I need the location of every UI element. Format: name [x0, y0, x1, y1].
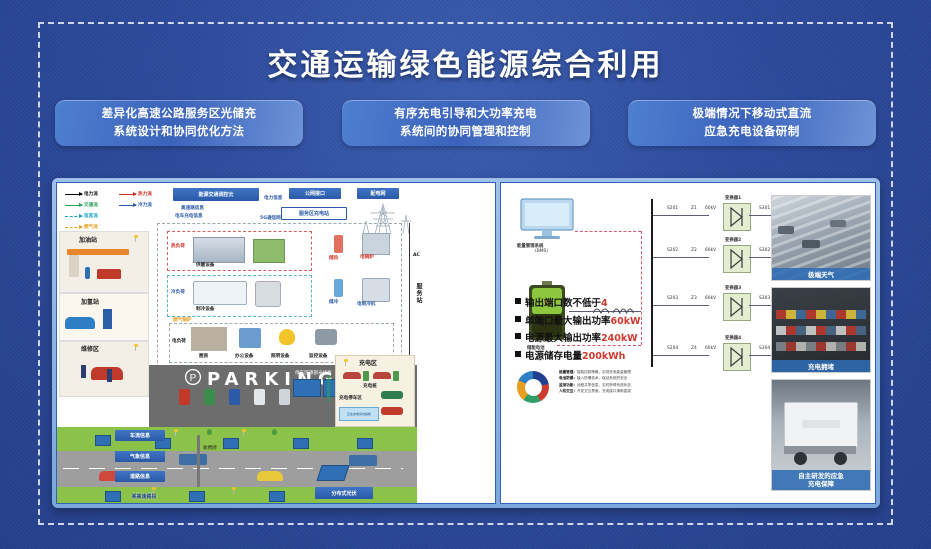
- road-car-yellow: [257, 471, 283, 481]
- branch-2-switch-label: S202: [667, 248, 678, 253]
- subtitle-pill-1-line2: 系统设计和协同优化方法: [114, 123, 245, 141]
- spec-3-value: 240kW: [601, 333, 638, 344]
- subtitle-pill-2-line1: 有序充电引导和大功率充电: [394, 105, 537, 123]
- car-red-at-gas-station: [97, 269, 121, 279]
- driveway-label: DRIVEWAY: [325, 375, 330, 402]
- branch-1-voltage-label: 60kV: [705, 206, 716, 211]
- branch-3-converter-label: 变换器3: [725, 285, 741, 291]
- bms-sublabel: (BMS): [535, 249, 548, 254]
- subtitle-pill-row: 差异化高速公路服务区光储充 系统设计和协同优化方法 有序充电引导和大功率充电 系…: [55, 100, 876, 146]
- monitoring-icon: [315, 329, 337, 345]
- cold-load-label: 冷负荷: [171, 289, 185, 295]
- right-circuit-panel: 能量管理系统 (BMS) ⚡ 储能电池 S101: [500, 182, 876, 504]
- legend-label-info: 信息流: [84, 213, 98, 219]
- feature-item-4: 人机交互：开发交互界面，充电接口清晰直观: [559, 388, 631, 394]
- legend-item-power: 电力流: [65, 191, 98, 197]
- feature-2-name: 电池防爆：: [559, 376, 577, 380]
- office-equipment-icon: [239, 328, 261, 348]
- subtitle-pill-1-line1: 差异化高速公路服务区光储充: [102, 105, 257, 123]
- legend-item-info: 信息流: [65, 213, 98, 219]
- lamp-icon-gas: [135, 237, 136, 242]
- feature-list: 能量管理：智能控制策略，实现充电能量管理 电池防爆：植入防爆技术，保证系统的安全…: [559, 369, 631, 394]
- branch-2-wire: [653, 257, 709, 258]
- poster-root: 交通运输绿色能源综合利用 差异化高速公路服务区光储充 系统设计和协同优化方法 有…: [0, 0, 931, 549]
- spec-item-1: 输出端口数不低于4: [515, 295, 641, 309]
- subtitle-pill-3-line2: 应急充电设备研制: [704, 123, 799, 141]
- bullet-square-icon: [515, 333, 521, 339]
- legend-label-gas: 燃气流: [84, 224, 98, 230]
- lot-car-red: [381, 407, 403, 415]
- spec-4-value: 200kWh: [582, 351, 625, 362]
- bullet-square-icon: [515, 298, 521, 304]
- grid-box-service-charging[interactable]: 服务区充电站: [281, 207, 347, 220]
- gas-station-label: 加油站: [79, 235, 97, 244]
- lot-car-green: [381, 391, 403, 399]
- tree-1: [207, 429, 212, 435]
- branch-3-inductor-label: Z3: [691, 296, 697, 301]
- mechanic-1: [81, 365, 86, 378]
- parking-p-icon: P: [185, 369, 201, 385]
- branch-1-inductor-label: Z1: [691, 206, 697, 211]
- branch-1-switch-label: S201: [667, 206, 678, 211]
- bms-control-bus-top: [575, 231, 641, 232]
- photo-mobile-charger-caption: 自主研发的应急 充电保障: [772, 470, 870, 490]
- cloud-link-power: 电力信息: [264, 195, 282, 201]
- road-truck-blue: [179, 454, 207, 465]
- roadside-solar-3: [223, 438, 239, 449]
- info-board-weather[interactable]: 气象信息: [115, 451, 165, 462]
- photo-mobile-charger-caption-line1: 自主研发的应急: [798, 472, 844, 480]
- cold-storage-label: 储冷: [329, 299, 338, 305]
- branch-3-wire: [653, 305, 709, 306]
- repair-zone-label: 维修区: [81, 344, 99, 353]
- photo-charging-congestion: 充电拥堵: [771, 287, 871, 373]
- photo-mobile-charger: 自主研发的应急 充电保障: [771, 379, 871, 491]
- branch-2-converter-label: 变换器2: [725, 237, 741, 243]
- lighting-icon: [279, 329, 295, 345]
- hydrogen-station-label: 加氢站: [81, 297, 99, 306]
- person-at-pump: [85, 267, 90, 279]
- road-lane-markings: [63, 468, 403, 469]
- charging-lot-label: 充电停车区: [339, 395, 362, 401]
- spec-1-text: 输出端口数不低于: [525, 298, 601, 309]
- branch-4-voltage-label: 60kV: [705, 346, 716, 351]
- bms-control-bus-vertical: [641, 231, 642, 345]
- cooling-equipment-icon: [193, 281, 247, 305]
- parked-car-1: [179, 389, 190, 405]
- feature-1-text: 智能控制策略，实现充电能量管理: [577, 370, 631, 374]
- road-truck-blue-2: [349, 455, 377, 466]
- service-station-label: 服务站: [414, 283, 423, 304]
- cold-equip-label: 制冷设备: [196, 306, 214, 312]
- page-title: 交通运输绿色能源综合利用: [0, 40, 931, 84]
- spec-bullet-list: 输出端口数不低于4 单端口最大输出功率60kW 电源最大输出功率240kW 电源…: [515, 295, 641, 365]
- parked-car-3: [229, 389, 240, 405]
- roadside-solar-4: [293, 438, 309, 449]
- chiller-icon: [255, 281, 281, 307]
- branch-4-out-label: S304: [759, 346, 770, 351]
- feature-3-text: 远程共享信息，实时获得系统状态: [577, 383, 631, 387]
- street-lamp-2: [243, 431, 244, 436]
- feature-item-3: 监测功能：远程共享信息，实时获得系统状态: [559, 382, 631, 388]
- content-card: 电力流 热力流 交通流 冷力流 信息流 燃气流 能源交通调控云 公网接口 配电网…: [52, 178, 880, 508]
- branch-4-converter-icon: [723, 343, 751, 371]
- charging-zone-lamp: [345, 361, 346, 366]
- feature-item-2: 电池防爆：植入防爆技术，保证系统的安全: [559, 375, 631, 381]
- photo-mobile-charger-caption-line2: 充电保障: [808, 480, 834, 488]
- legend-item-gas: 燃气流: [65, 224, 98, 230]
- branch-3-converter-icon: [723, 293, 751, 321]
- branch-2-converter-icon: [723, 245, 751, 273]
- roadside-solar-1: [95, 435, 111, 446]
- legend-item-cold: 冷力流: [119, 202, 152, 208]
- kitchen-icon: [191, 327, 227, 351]
- feature-4-name: 人机交互：: [559, 389, 577, 393]
- legend-item-heat: 热力流: [119, 191, 152, 197]
- roadside-solar-5: [357, 438, 373, 449]
- left-diagram-panel: 电力流 热力流 交通流 冷力流 信息流 燃气流 能源交通调控云 公网接口 配电网…: [56, 182, 496, 504]
- photo-extreme-weather-caption: 极端天气: [772, 268, 870, 280]
- svg-text:P: P: [190, 373, 197, 384]
- gas-boiler-label: 燃气锅炉: [173, 317, 191, 323]
- heat-equip-label: 供暖设备: [196, 262, 214, 268]
- branch-3-voltage-label: 60kV: [705, 296, 716, 301]
- mechanic-2: [107, 369, 112, 382]
- parked-car-2: [204, 389, 215, 405]
- electric-load-label: 电负荷: [172, 338, 186, 344]
- toll-gate-post: [197, 435, 200, 487]
- subtitle-pill-2[interactable]: 有序充电引导和大功率充电 系统间的协同管理和控制: [342, 100, 590, 146]
- subtitle-pill-1[interactable]: 差异化高速公路服务区光储充 系统设计和协同优化方法: [55, 100, 303, 146]
- subtitle-pill-2-line2: 系统间的协同管理和控制: [400, 123, 531, 141]
- branch-3-switch-label: S203: [667, 296, 678, 301]
- street-lamp-1: [175, 431, 176, 436]
- subtitle-pill-3-line1: 极端情况下移动式直流: [693, 105, 812, 123]
- info-board-road[interactable]: 道路信息: [115, 471, 165, 482]
- spec-item-2: 单端口最大输出功率60kW: [515, 313, 641, 327]
- ac-label: AC: [413, 253, 420, 258]
- lower-lamp-2: [233, 489, 234, 494]
- branch-4-converter-label: 变换器4: [725, 335, 741, 341]
- info-board-traffic[interactable]: 车流信息: [115, 430, 165, 441]
- legend-item-traffic: 交通流: [65, 202, 98, 208]
- legend-label-heat: 热力流: [138, 191, 152, 197]
- heating-equipment-icon: [193, 237, 245, 263]
- bullet-square-icon: [515, 316, 521, 322]
- subtitle-pill-3[interactable]: 极端情况下移动式直流 应急充电设备研制: [628, 100, 876, 146]
- feature-4-text: 开发交互界面，充电接口清晰直观: [577, 389, 631, 393]
- kitchen-label: 厨房: [199, 353, 208, 359]
- cloud-link-5g: 5G通信网: [260, 215, 281, 221]
- electric-boiler-icon: [362, 233, 390, 255]
- lower-solar-2: [189, 491, 205, 502]
- cold-storage-icon: [334, 279, 343, 297]
- feature-donut-chart: [517, 371, 549, 403]
- charging-pile-1: [363, 371, 369, 381]
- branch-1-out-label: S301: [759, 206, 770, 211]
- branch-1-wire: [653, 215, 709, 216]
- branch-2-voltage-label: 60kV: [705, 248, 716, 253]
- branch-1-converter-label: 变换器1: [725, 195, 741, 201]
- cloud-link-evcharge: 电车充电信息: [175, 213, 203, 219]
- branch-1-converter-icon: [723, 203, 751, 231]
- spec-item-3: 电源最大输出功率240kW: [515, 330, 641, 344]
- spec-item-4: 电源储存电量200kWh: [515, 348, 641, 362]
- highway-label: 某高速路段: [115, 491, 173, 502]
- lighting-label: 照明设备: [271, 353, 289, 359]
- grid-box-public-interface[interactable]: 公网接口: [289, 188, 341, 199]
- charging-zone-title: 充电区: [359, 358, 377, 367]
- charging-pile-2: [393, 371, 399, 381]
- branch-3-out-label: S303: [759, 296, 770, 301]
- heat-storage-icon: [334, 235, 343, 253]
- distributed-pv-array: [316, 465, 349, 481]
- cloud-box[interactable]: 能源交通调控云: [173, 188, 259, 201]
- electric-chiller-label: 电制冷机: [357, 301, 375, 307]
- bms-monitor-icon: [519, 197, 575, 241]
- spec-4-text: 电源储存电量: [525, 351, 582, 362]
- distributed-pv-label[interactable]: 分布式光伏: [315, 487, 373, 499]
- branch-2-out-label: S302: [759, 248, 770, 253]
- tree-2: [272, 429, 277, 435]
- heat-exchanger-icon: [253, 239, 285, 263]
- spec-2-value: 60kW: [611, 316, 641, 327]
- branch-2-inductor-label: Z2: [691, 248, 697, 253]
- charging-car-1: [343, 372, 361, 379]
- charging-car-2: [373, 372, 391, 379]
- feature-3-name: 监测功能：: [559, 383, 577, 387]
- electric-boiler-label: 电锅炉: [360, 254, 374, 260]
- electric-chiller-icon: [362, 278, 390, 302]
- cloud-link-highway: 高速路信息: [181, 205, 204, 211]
- toll-gate-label: 收费牌: [203, 445, 217, 451]
- feature-1-name: 能量管理：: [559, 370, 577, 374]
- spec-2-text: 单端口最大输出功率: [525, 316, 611, 327]
- gas-pump: [69, 255, 79, 277]
- legend-label-traffic: 交通流: [84, 202, 98, 208]
- parking-solar-panel-1: [293, 379, 321, 397]
- spec-3-text: 电源最大输出功率: [525, 333, 601, 344]
- branch-4-wire: [653, 355, 709, 356]
- office-label: 办公设备: [235, 353, 253, 359]
- parked-car-5: [279, 389, 290, 405]
- legend-label-power: 电力流: [84, 191, 98, 197]
- bullet-square-icon: [515, 351, 521, 357]
- photo-extreme-weather: 极端天气: [771, 195, 871, 281]
- lower-solar-3: [269, 491, 285, 502]
- spec-1-value: 4: [601, 298, 608, 309]
- branch-4-inductor-label: Z4: [691, 346, 697, 351]
- dc-busbar: [651, 199, 653, 367]
- feature-2-text: 植入防爆技术，保证系统的安全: [577, 376, 627, 380]
- legend-label-cold: 冷力流: [138, 202, 152, 208]
- parked-car-4: [254, 389, 265, 405]
- heat-storage-label: 储热: [329, 255, 338, 261]
- grid-box-distribution[interactable]: 配电网: [357, 188, 399, 199]
- car-blue-hydrogen: [65, 317, 95, 329]
- branch-4-switch-label: S204: [667, 346, 678, 351]
- heat-load-label: 热负荷: [171, 243, 185, 249]
- lamp-icon-repair: [135, 346, 136, 351]
- monitoring-label: 监控设备: [309, 353, 327, 359]
- hydrogen-dispenser: [103, 309, 112, 329]
- charging-screen: 正在充电请勿拔枪: [339, 407, 379, 421]
- charging-pile-label: 充电桩: [363, 383, 377, 389]
- photo-charging-congestion-caption: 充电拥堵: [772, 360, 870, 372]
